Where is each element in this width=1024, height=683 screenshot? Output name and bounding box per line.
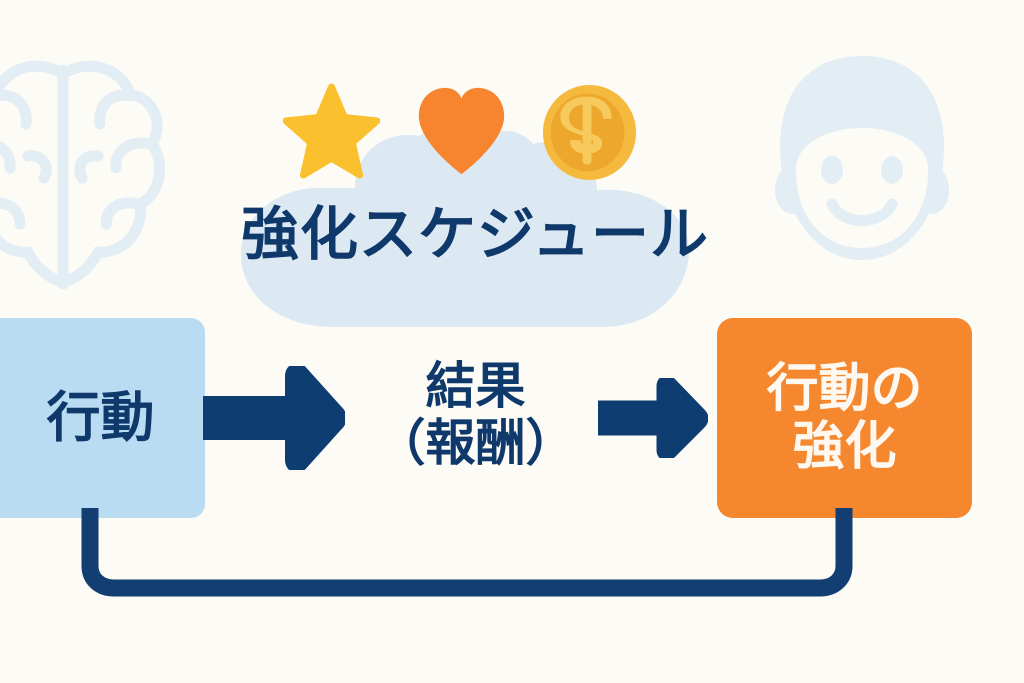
feedback-loop-connector (60, 500, 880, 620)
arrow-behavior-to-outcome-icon (203, 366, 345, 470)
flow-step-outcome-line2: （報酬） (348, 415, 603, 472)
coin-icon (541, 84, 638, 181)
flow-step-reinforcement[interactable]: 行動の 強化 (717, 318, 972, 518)
flow-step-behavior-label: 行動 (47, 388, 155, 448)
heart-icon (413, 83, 510, 180)
flow-step-reinforcement-line2: 強化 (766, 418, 922, 476)
flow-step-outcome-line1: 結果 (348, 358, 603, 415)
diagram-canvas: 強化スケジュール 行動 結果 （報酬） 行動の 強化 (0, 0, 1024, 683)
face-icon (762, 42, 962, 302)
star-icon (283, 83, 380, 180)
cloud-title: 強化スケジュール (205, 206, 745, 264)
flow-step-reinforcement-line1: 行動の (766, 360, 922, 418)
flow-step-outcome: 結果 （報酬） (348, 358, 603, 472)
brain-icon (0, 48, 168, 298)
flow-step-behavior[interactable]: 行動 (0, 318, 205, 518)
arrow-outcome-to-reinforce-icon (598, 378, 708, 458)
